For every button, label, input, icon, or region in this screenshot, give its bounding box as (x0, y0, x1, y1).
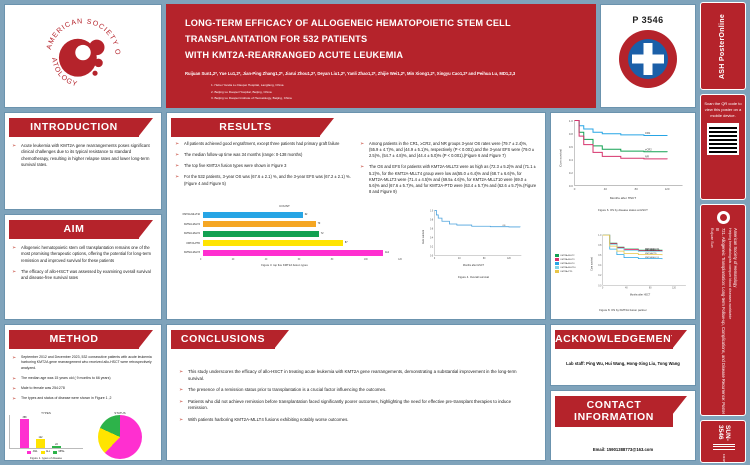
chart-x-axis: 020406080100120 (167, 259, 402, 261)
svg-text:0: 0 (434, 258, 436, 260)
lu-daopei-logo-icon (619, 30, 677, 88)
list-item: Patients who did not achieve remission b… (179, 399, 531, 412)
bar-item: KMT2A-MLLT272 (173, 230, 396, 237)
poster-number: P 3546 (632, 15, 663, 25)
board-id-block: SUN-3546 4394354 (700, 420, 746, 463)
svg-text:0.2: 0.2 (430, 247, 434, 249)
method-list: September 2012 and December 2023, 532 co… (12, 355, 153, 402)
svg-text:40: 40 (625, 288, 628, 290)
legend-item: ALL (41, 451, 51, 454)
ash-society-logo: AMERICAN SOCIETY OF HEM ATOLOGY (5, 5, 161, 107)
svg-text:120: 120 (507, 258, 512, 260)
axis-tick: 0 (200, 259, 201, 261)
axis-tick: 80 (331, 259, 334, 261)
ash-online-sidebar: ASH PosterOnline Scan the QR code to vie… (700, 2, 748, 463)
list-item: The efficacy of allo-HSCT was assessed b… (12, 269, 153, 282)
results-panel: RESULTS All patients achieved good engra… (166, 112, 546, 320)
list-item: All patients achieved good engraftment, … (175, 141, 352, 147)
axis-tick: 100 (364, 259, 368, 261)
figure-4-overall-survival: 0.00.20.40.60.81.004080120Months after H… (402, 204, 545, 281)
svg-text:80: 80 (635, 187, 639, 191)
list-item: The median follow-up time was 34 months … (175, 152, 352, 158)
svg-text:0: 0 (574, 187, 576, 191)
axis-tick: 60 (298, 259, 301, 261)
svg-text:0: 0 (602, 288, 604, 290)
svg-text:0.8: 0.8 (430, 220, 434, 222)
author-list: Ruijuan Sun1,2*, Yue Lu1,2*, Jian-Ping Z… (185, 70, 583, 78)
results-list-right: Among patients in the CR1, ≥CR2, and NR … (360, 141, 537, 195)
list-item: Among patients in the CR1, ≥CR2, and NR … (360, 141, 537, 159)
acknowledgements-text: Lab staff: Ping Wu, Hui Wang, Hong-Xing … (551, 361, 695, 366)
svg-text:Months after HSCT: Months after HSCT (463, 264, 485, 267)
svg-text:0.6: 0.6 (598, 255, 602, 257)
list-item: Acute leukemia with KMT2A gene rearrange… (12, 143, 153, 169)
figure-8-os-by-fusion-type: KMT2A-MLLT2KMT2A-MLLT3KMT2A-MLLT4KMT2A-M… (551, 220, 695, 314)
svg-text:Cum survival: Cum survival (422, 230, 425, 245)
list-item: With patients harboring KMT2A-MLLT4 fusi… (179, 417, 531, 424)
conclusions-heading: CONCLUSIONS (171, 330, 275, 349)
svg-text:1.0: 1.0 (569, 119, 573, 123)
poster-title-line-1: LONG-TERM EFFICACY OF ALLOGENEIC HEMATOP… (185, 15, 583, 47)
legend-item: AML (27, 451, 37, 454)
km-curve-plot-area: 0.00.20.40.60.81.004080120Months after H… (589, 222, 691, 306)
svg-text:0.4: 0.4 (430, 238, 434, 240)
svg-text:0.4: 0.4 (598, 265, 602, 267)
acknowledgements-panel: ACKNOWLEDGEMENTS Lab staff: Ping Wu, Hui… (550, 324, 696, 386)
svg-text:1.0: 1.0 (430, 211, 434, 213)
legend-item: KMT2A-MLLT3 (555, 258, 589, 261)
list-item: Allogeneic hematopoietic stem cell trans… (12, 245, 153, 264)
poster-canvas: AMERICAN SOCIETY OF HEM ATOLOGY LONG-TER… (0, 0, 750, 465)
svg-text:0.8: 0.8 (598, 245, 602, 247)
bar-item: 122 (36, 415, 45, 448)
svg-text:0.4: 0.4 (569, 158, 573, 162)
bar-item: 22 (52, 415, 61, 448)
results-column-right: Among patients in the CR1, ≥CR2, and NR … (360, 141, 537, 200)
legend-item: KMT2A-MLLT4 (555, 262, 589, 265)
qr-caption: Scan the QR code to view this poster on … (701, 101, 745, 118)
svg-text:0.0: 0.0 (569, 184, 573, 188)
qr-code-icon[interactable] (707, 123, 739, 155)
svg-text:40: 40 (458, 258, 461, 260)
aim-list: Allogeneic hematopoietic stem cell trans… (12, 245, 153, 281)
svg-text:40: 40 (604, 187, 608, 191)
svg-text:KMT2A-MLLT10: KMT2A-MLLT10 (645, 249, 661, 252)
svg-text:Cum survival: Cum survival (558, 149, 562, 167)
survival-figures-panel: 0.00.20.40.60.81.004080120Months after H… (550, 112, 696, 320)
bar-item: 388 (20, 415, 29, 448)
society-name: American Society of Hematology (732, 228, 738, 416)
affiliation-3: 3. Beijing Lu Daopei Institute of Hemato… (185, 95, 583, 101)
session-title: 721. Allogeneic Transplantation: Long-te… (714, 228, 726, 416)
bar-item: KMT2A-MLLT1062 (173, 211, 396, 218)
svg-text:120: 120 (665, 187, 670, 191)
results-column-left: All patients achieved good engraftment, … (175, 141, 352, 200)
figure-2-status-of-disease: STATUS CR1≥CR2NR Figure 2. status of dis… (83, 411, 157, 462)
method-panel: METHOD September 2012 and December 2023,… (4, 324, 162, 461)
list-item: The presence of a remission status prior… (179, 387, 531, 394)
conclusions-list: This study underscores the efficacy of a… (179, 369, 531, 424)
svg-text:0.2: 0.2 (569, 171, 573, 175)
svg-text:Months after HSCT: Months after HSCT (610, 196, 636, 200)
svg-text:0.6: 0.6 (569, 145, 573, 149)
svg-text:120: 120 (672, 288, 676, 290)
list-item: The top five KMT2A fusion types were sho… (175, 163, 352, 169)
axis-tick: 20 (232, 259, 235, 261)
introduction-heading: INTRODUCTION (9, 118, 139, 137)
legend-item: KMT2A-MLLT2 (555, 254, 589, 257)
legend-item: KMT2A-PTD (555, 270, 589, 273)
barcode-label: 4394354 (723, 454, 726, 463)
list-item: The median age was 15 years old ( 9 mont… (12, 376, 153, 381)
figure-1-types-of-disease: TYPES 38812222 AMLALLMPAL Figure 1. type… (9, 411, 83, 462)
presenter-name: Ruijuan Sun (710, 228, 714, 416)
svg-text:Cum survival: Cum survival (590, 257, 593, 271)
brand-label: ASH PosterOnline (720, 13, 727, 78)
poster-title-panel: LONG-TERM EFFICACY OF ALLOGENEIC HEMATOP… (166, 4, 596, 108)
legend-item: ≥CR2 (115, 461, 126, 462)
session-block: American Society of Hematology Helping h… (700, 204, 746, 416)
svg-text:KMT2A-PTD: KMT2A-PTD (645, 252, 657, 255)
svg-text:NR: NR (645, 155, 649, 159)
contact-panel: CONTACT INFORMATION Email: 15901388773@1… (550, 390, 696, 461)
axis-tick: 40 (265, 259, 268, 261)
bar-item: KMT2A-MLLT3112 (173, 249, 396, 256)
svg-text:80: 80 (649, 288, 652, 290)
svg-text:KMT2A-MLLT4: KMT2A-MLLT4 (645, 256, 659, 259)
legend-item: NR (129, 461, 138, 462)
bar-item: KMT2A-PTD87 (173, 240, 396, 247)
contact-heading: CONTACT INFORMATION (555, 396, 673, 427)
list-item: The OS and EFS for patients with KMT2A-M… (360, 164, 537, 195)
conclusions-panel: CONCLUSIONS This study underscores the e… (166, 324, 546, 461)
svg-text:0.8: 0.8 (569, 132, 573, 136)
svg-text:Months after HSCT: Months after HSCT (630, 293, 651, 296)
figure-3-top-five-kmt2a-fusion-types: COUNT KMT2A-MLLT1062KMT2A-MLLT470KMT2A-M… (167, 204, 402, 267)
introduction-panel: INTRODUCTION Acute leukemia with KMT2A g… (4, 112, 162, 210)
ash-logo-panel: AMERICAN SOCIETY OF HEM ATOLOGY (4, 4, 162, 108)
list-item: For the 532 patients, 3-year OS was (67.… (175, 174, 352, 186)
legend-item: KMT2A-MLLT10 (555, 266, 589, 269)
bar-item: KMT2A-MLLT470 (173, 221, 396, 228)
ash-posteronline-brand: ASH PosterOnline (700, 2, 746, 90)
poster-title-line-2: WITH KMT2A-REARRANGED ACUTE LEUKEMIA (185, 47, 583, 63)
acknowledgements-heading: ACKNOWLEDGEMENTS (555, 330, 673, 349)
ash-logo-icon: AMERICAN SOCIETY OF HEM ATOLOGY (40, 13, 126, 99)
chart-legend: KMT2A-MLLT2KMT2A-MLLT3KMT2A-MLLT4KMT2A-M… (555, 254, 589, 274)
qr-code-block[interactable]: Scan the QR code to view this poster on … (700, 94, 746, 200)
ash-mini-logo-icon (718, 211, 731, 224)
legend-item: CR1 (102, 461, 112, 462)
figure-6-os-by-remission-status: 0.00.20.40.60.81.004080120Months after H… (551, 113, 695, 214)
chart-legend: AMLALLMPAL (9, 451, 83, 454)
svg-text:0.2: 0.2 (598, 275, 602, 277)
svg-text:80: 80 (483, 258, 486, 260)
aim-panel: AIM Allogeneic hematopoietic stem cell t… (4, 214, 162, 320)
bar-chart-plot-area: 38812222 (9, 415, 83, 449)
legend-item: MPAL (53, 451, 65, 454)
bar-chart-plot-area: KMT2A-MLLT1062KMT2A-MLLT470KMT2A-MLLT272… (167, 208, 402, 256)
method-heading: METHOD (9, 330, 139, 349)
board-id: SUN-3546 (717, 425, 731, 441)
results-list-left: All patients achieved good engraftment, … (175, 141, 352, 187)
km-curve-plot-area: 0.00.20.40.60.81.004080120Months after H… (406, 206, 541, 268)
poster-number-panel: P 3546 (600, 4, 696, 108)
list-item: This study underscores the efficacy of a… (179, 369, 531, 382)
barcode-icon (713, 444, 735, 451)
pie-chart-plot-area (98, 415, 142, 459)
svg-text:0.6: 0.6 (430, 229, 434, 231)
km-curve-plot-area: 0.00.20.40.60.81.004080120Months after H… (555, 115, 691, 201)
list-item: September 2012 and December 2023, 532 co… (12, 355, 153, 371)
aim-heading: AIM (9, 220, 139, 239)
svg-text:CR1: CR1 (645, 131, 651, 135)
results-heading: RESULTS (171, 118, 320, 137)
contact-email: Email: 15901388773@163.com (551, 447, 695, 452)
list-item: The types and status of disease were sho… (12, 396, 153, 401)
chart-legend: CR1≥CR2NR (83, 461, 157, 462)
svg-text:≥CR2: ≥CR2 (645, 147, 652, 151)
society-tagline: Helping hematologists conquer blood dise… (728, 228, 732, 416)
svg-text:1.0: 1.0 (598, 235, 602, 237)
list-item: Male to female was 254:278 (12, 386, 153, 391)
introduction-list: Acute leukemia with KMT2A gene rearrange… (12, 143, 153, 169)
